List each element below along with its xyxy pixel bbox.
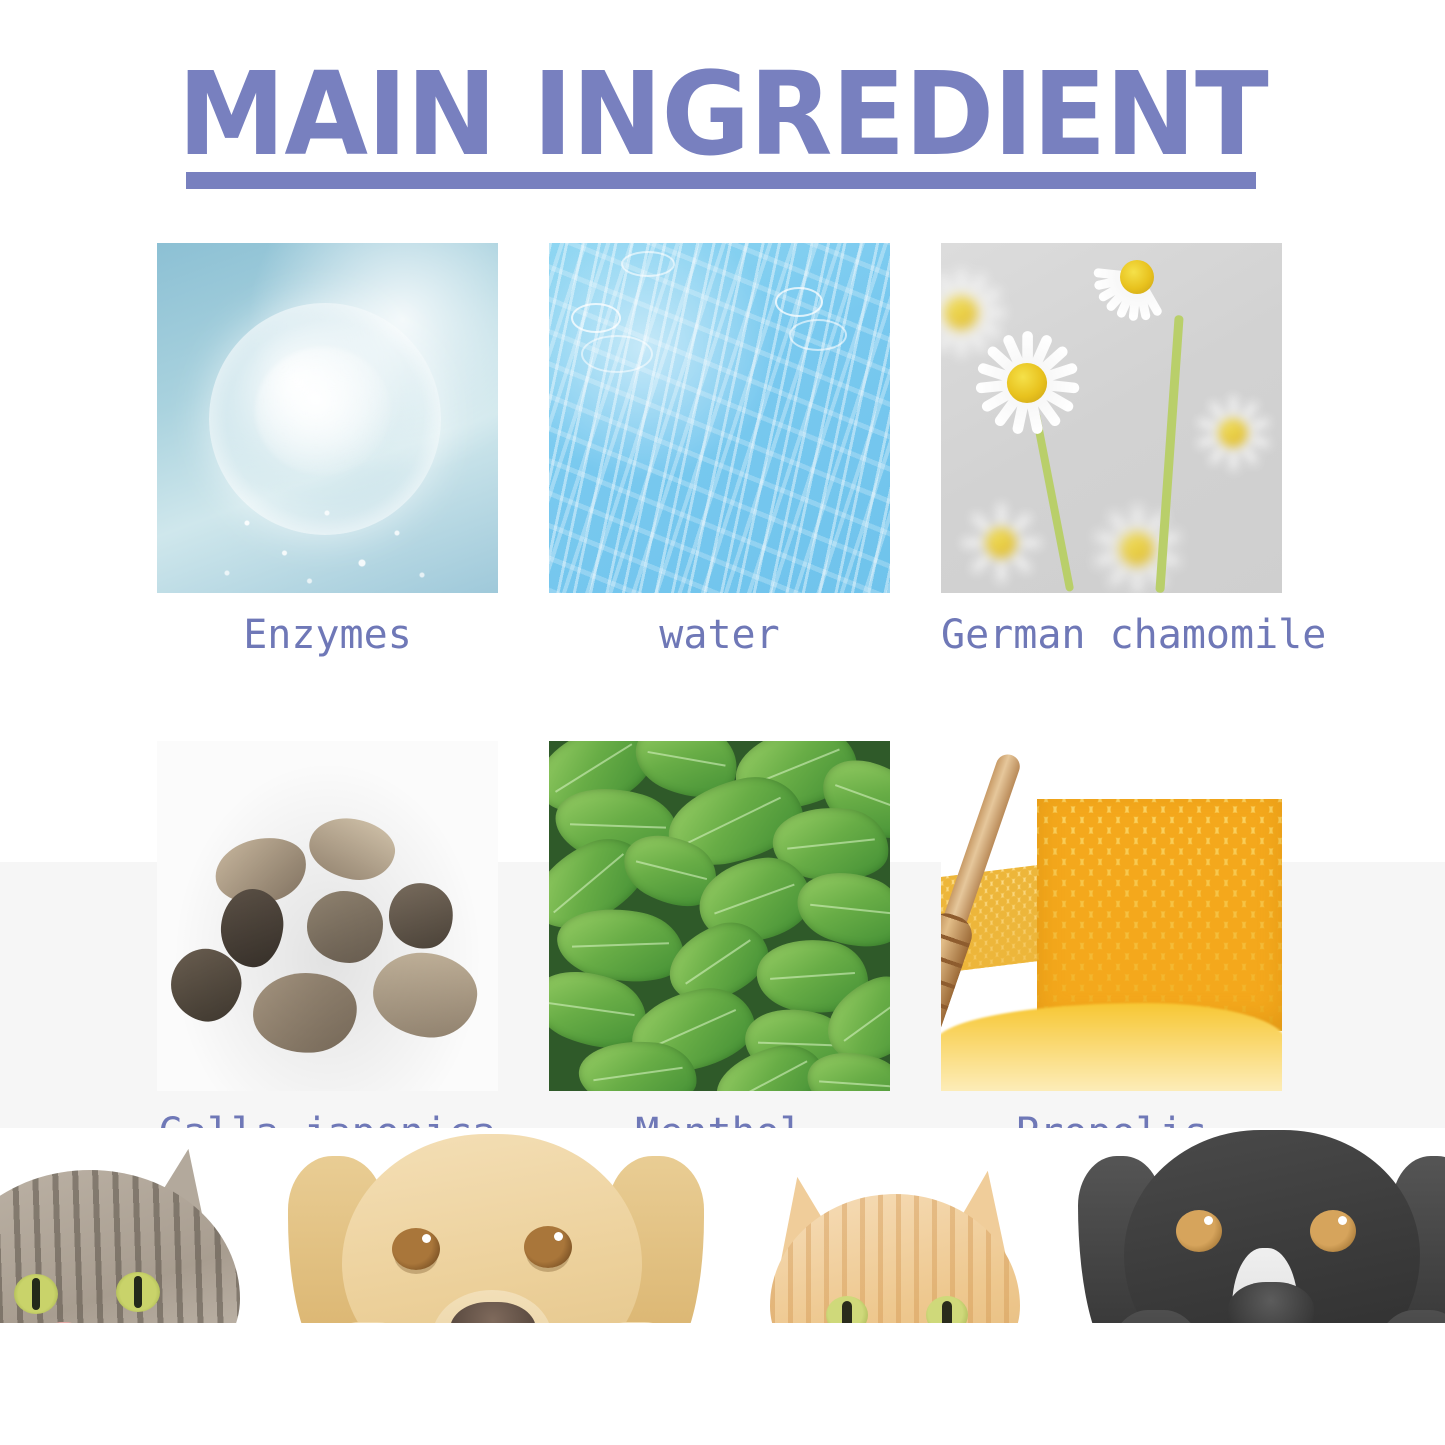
ripple-ring-icon — [571, 303, 621, 333]
page-title-wrap: MAIN INGREDIENT — [0, 58, 1445, 173]
ingredient-label-enzymes: Enzymes — [157, 593, 498, 655]
dog-eye — [524, 1226, 572, 1268]
dog-eye — [392, 1228, 440, 1270]
honeycomb-shape — [1037, 799, 1282, 1031]
water-spray-shape — [197, 493, 447, 593]
ingredient-label-water: water — [549, 593, 890, 655]
honeycomb-dipper-image — [941, 741, 1282, 1091]
page-title: MAIN INGREDIENT — [178, 58, 1268, 173]
ingredient-row-1: Enzymes water — [157, 243, 1282, 655]
cat-eye — [14, 1274, 58, 1314]
dog-eye — [1310, 1210, 1356, 1252]
mint-leaves-image — [549, 741, 890, 1091]
honey-pool-shape — [941, 1003, 1282, 1091]
bubble-droplet-image — [157, 243, 498, 593]
flower-stem — [1032, 412, 1075, 592]
flower-stem — [1155, 315, 1183, 593]
pile-shadow-overlay — [157, 741, 498, 1091]
dried-gallnuts-image — [157, 741, 498, 1091]
ripple-ring-icon — [621, 251, 675, 277]
ingredient-card-galla-japonica[interactable]: Galla japonica — [157, 741, 498, 1153]
ingredient-card-propolis[interactable]: Propolis — [941, 741, 1282, 1153]
ingredient-card-enzymes[interactable]: Enzymes — [157, 243, 498, 655]
ingredient-card-menthol[interactable]: Menthol — [549, 741, 890, 1153]
ingredient-grid: Enzymes water — [157, 243, 1282, 1153]
white-ledge — [0, 1323, 1445, 1445]
animal-photo-strip — [0, 1128, 1445, 1445]
ingredient-label-german-chamomile: German chamomile — [941, 593, 1282, 655]
chamomile-flowers-image — [941, 243, 1282, 593]
ripple-ring-icon — [789, 319, 847, 351]
dog-eye — [1176, 1210, 1222, 1252]
ingredient-card-water[interactable]: water — [549, 243, 890, 655]
cat-eye — [116, 1272, 160, 1312]
ingredient-row-2: Galla japonica — [157, 741, 1282, 1153]
ingredient-card-german-chamomile[interactable]: German chamomile — [941, 243, 1282, 655]
ripple-ring-icon — [581, 335, 653, 373]
water-ripples-image — [549, 243, 890, 593]
ripple-ring-icon — [775, 287, 823, 317]
title-underline-rule — [186, 172, 1256, 189]
